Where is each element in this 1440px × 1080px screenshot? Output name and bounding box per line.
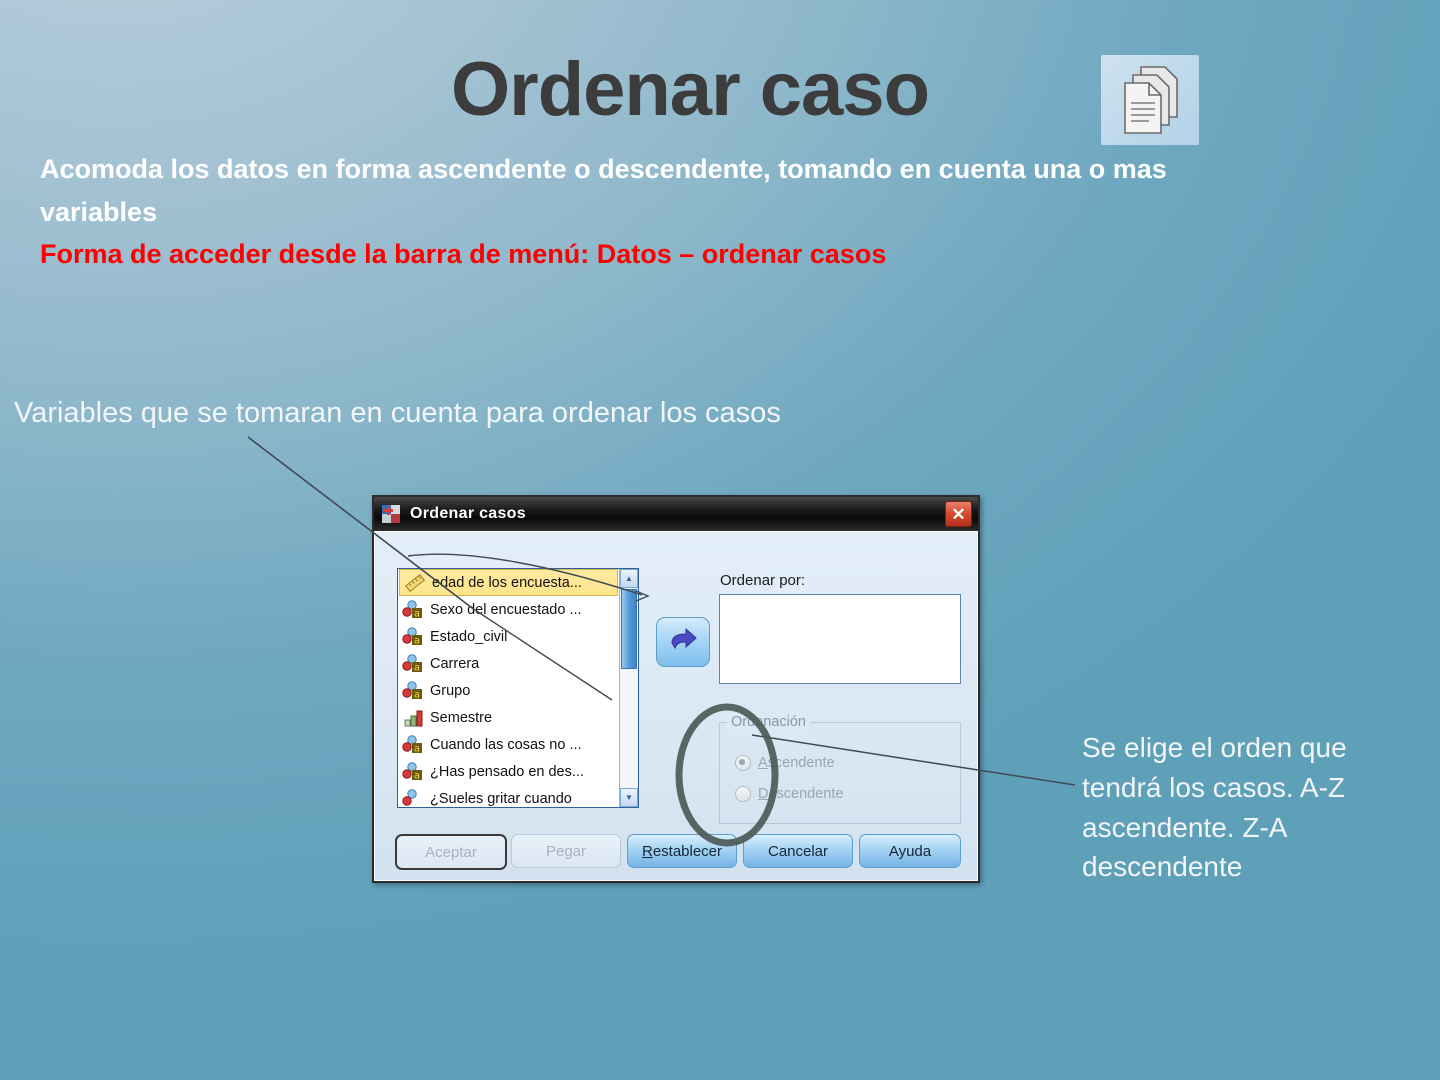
annotation-left: Variables que se tomaran en cuenta para … (14, 392, 834, 434)
svg-text:a: a (414, 662, 420, 673)
nominal-string-icon: a (402, 600, 424, 620)
pegar-button[interactable]: Pegar (511, 834, 621, 868)
variable-list[interactable]: edad de los encuesta... a Sexo del encue… (397, 568, 639, 808)
annotation-right: Se elige el orden que tendrá los casos. … (1082, 728, 1422, 887)
radio-unselected-icon (735, 786, 751, 802)
nominal-string-icon: a (402, 681, 424, 701)
list-item[interactable]: edad de los encuesta... (399, 569, 618, 596)
nominal-string-icon: a (402, 627, 424, 647)
copy-documents-icon (1101, 55, 1199, 145)
svg-text:a: a (414, 635, 420, 646)
dialog-title: Ordenar casos (410, 505, 526, 523)
scroll-down-icon[interactable]: ▼ (620, 788, 638, 807)
subtitle-red: Forma de acceder desde la barra de menú:… (40, 233, 1230, 276)
nominal-string-icon: a (402, 762, 424, 782)
radio-ascendente[interactable]: Ascendente (735, 755, 835, 771)
spss-icon (381, 504, 401, 524)
page-title: Ordenar caso (350, 52, 1030, 128)
radio-ascendente-label: Ascendente (758, 755, 835, 771)
list-item[interactable]: Semestre (398, 704, 619, 731)
list-item-label: ¿Sueles gritar cuando (430, 791, 572, 807)
ordinal-bars-icon (402, 708, 424, 728)
list-item-label: Cuando las cosas no ... (430, 737, 582, 753)
list-item[interactable]: a Grupo (398, 677, 619, 704)
scrollbar-track[interactable] (620, 670, 638, 788)
radio-selected-icon (735, 755, 751, 771)
list-item-label: Semestre (430, 710, 492, 726)
list-item-label: edad de los encuesta... (432, 575, 582, 591)
list-item[interactable]: a Estado_civil (398, 623, 619, 650)
restablecer-button[interactable]: Restablecer (627, 834, 737, 868)
dialog-button-row: Aceptar Pegar Restablecer Cancelar Ayuda (395, 834, 960, 868)
svg-text:a: a (414, 608, 420, 619)
nominal-string-icon (402, 789, 424, 808)
close-icon[interactable]: ✕ (945, 501, 972, 527)
scrollbar-thumb[interactable] (621, 589, 637, 669)
move-variable-button[interactable] (656, 617, 710, 667)
arrow-right-icon (668, 627, 698, 658)
sort-by-list[interactable] (719, 594, 961, 684)
svg-text:a: a (414, 743, 420, 754)
svg-text:a: a (414, 770, 420, 781)
variable-list-items[interactable]: edad de los encuesta... a Sexo del encue… (398, 569, 619, 807)
list-item[interactable]: ¿Sueles gritar cuando (398, 785, 619, 807)
dialog-body: edad de los encuesta... a Sexo del encue… (374, 531, 978, 881)
list-item-label: Carrera (430, 656, 479, 672)
list-item-label: Estado_civil (430, 629, 507, 645)
ruler-scale-icon (404, 573, 426, 593)
list-item[interactable]: a Cuando las cosas no ... (398, 731, 619, 758)
slide-canvas: Ordenar caso Acomoda los datos en forma … (0, 0, 1440, 1080)
ordenar-casos-dialog: Ordenar casos ✕ (372, 495, 980, 883)
nominal-string-icon: a (402, 735, 424, 755)
dialog-titlebar[interactable]: Ordenar casos ✕ (374, 497, 978, 531)
sort-by-label: Ordenar por: (720, 572, 805, 589)
list-item[interactable]: a ¿Has pensado en des... (398, 758, 619, 785)
cancelar-button[interactable]: Cancelar (743, 834, 853, 868)
scroll-up-icon[interactable]: ▲ (620, 569, 638, 588)
variable-list-scrollbar[interactable]: ▲ ▼ (619, 569, 638, 807)
list-item-label: ¿Has pensado en des... (430, 764, 584, 780)
order-group-legend: Ordenación (727, 714, 810, 730)
order-group-box (719, 722, 961, 824)
list-item[interactable]: a Sexo del encuestado ... (398, 596, 619, 623)
list-item-label: Sexo del encuestado ... (430, 602, 582, 618)
nominal-string-icon: a (402, 654, 424, 674)
radio-descendente-label: Descendente (758, 786, 843, 802)
list-item[interactable]: a Carrera (398, 650, 619, 677)
aceptar-button[interactable]: Aceptar (395, 834, 507, 870)
subtitle-block: Acomoda los datos en forma ascendente o … (40, 148, 1230, 276)
subtitle-white: Acomoda los datos en forma ascendente o … (40, 148, 1230, 233)
radio-descendente[interactable]: Descendente (735, 786, 843, 802)
ayuda-button[interactable]: Ayuda (859, 834, 961, 868)
list-item-label: Grupo (430, 683, 470, 699)
svg-text:a: a (414, 689, 420, 700)
